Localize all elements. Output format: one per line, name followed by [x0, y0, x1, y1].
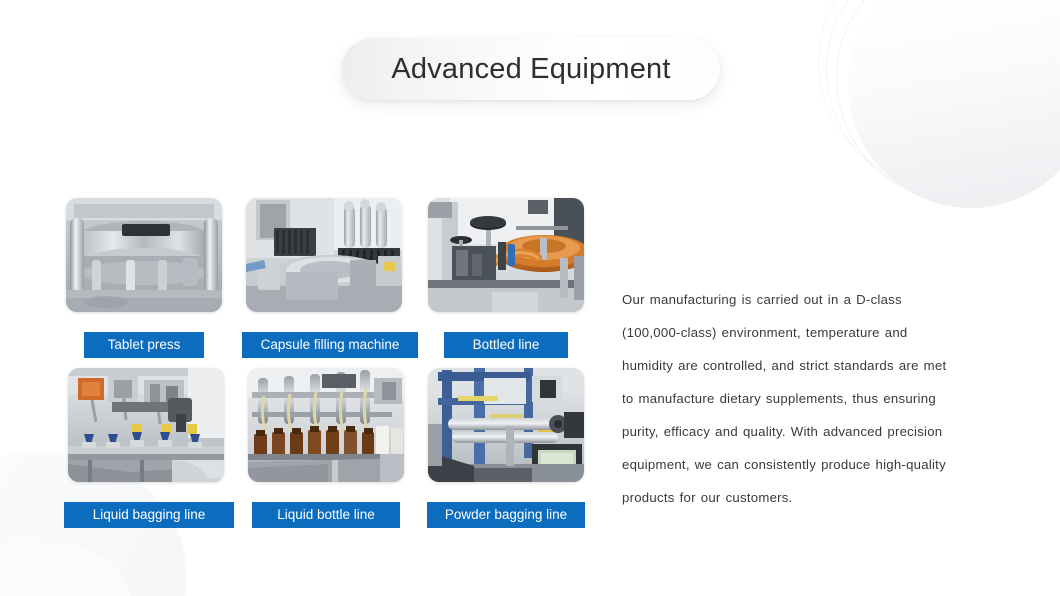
- powder-bagging-line-image: [428, 368, 584, 482]
- gallery-caption: Capsule filling machine: [242, 332, 418, 358]
- gallery-card[interactable]: Tablet press: [66, 198, 222, 358]
- gallery-card[interactable]: Liquid bottle line: [248, 368, 404, 528]
- gallery-caption: Bottled line: [444, 332, 568, 358]
- tablet-press-image: [66, 198, 222, 312]
- description-line: products for our customers.: [622, 481, 984, 514]
- capsule-filling-machine-image: [246, 198, 402, 312]
- description-line: equipment, we can consistently produce h…: [622, 448, 984, 481]
- description-paragraph: Our manufacturing is carried out in a D-…: [622, 283, 984, 514]
- gallery-caption: Powder bagging line: [427, 502, 585, 528]
- decorative-circle-outline-2: [826, 0, 1060, 194]
- description-line: humidity are controlled, and strict stan…: [622, 349, 984, 382]
- decorative-circle-outline-3: [818, 0, 1060, 186]
- bottled-line-image: [428, 198, 584, 312]
- description-line: purity, efficacy and quality. With advan…: [622, 415, 984, 448]
- decorative-circle-outline-1: [836, 0, 1060, 202]
- gallery-caption: Liquid bagging line: [64, 502, 234, 528]
- gallery-card[interactable]: Bottled line: [428, 198, 584, 358]
- description-line: Our manufacturing is carried out in a D-…: [622, 283, 984, 316]
- description-line: (100,000-class) environment, temperature…: [622, 316, 984, 349]
- slide-title-banner: Advanced Equipment: [342, 38, 720, 100]
- description-line: to manufacture dietary supplements, thus…: [622, 382, 984, 415]
- gallery-card[interactable]: Capsule filling machine: [246, 198, 418, 358]
- gallery-card[interactable]: Powder bagging line: [428, 368, 585, 528]
- decorative-corner-sliver: [0, 540, 130, 596]
- decorative-sphere-top-right: [848, 0, 1060, 208]
- liquid-bottle-line-image: [248, 368, 404, 482]
- slide-title: Advanced Equipment: [391, 53, 670, 86]
- gallery-caption: Tablet press: [84, 332, 204, 358]
- gallery-card[interactable]: Liquid bagging line: [68, 368, 234, 528]
- gallery-caption: Liquid bottle line: [252, 502, 400, 528]
- liquid-bagging-line-image: [68, 368, 224, 482]
